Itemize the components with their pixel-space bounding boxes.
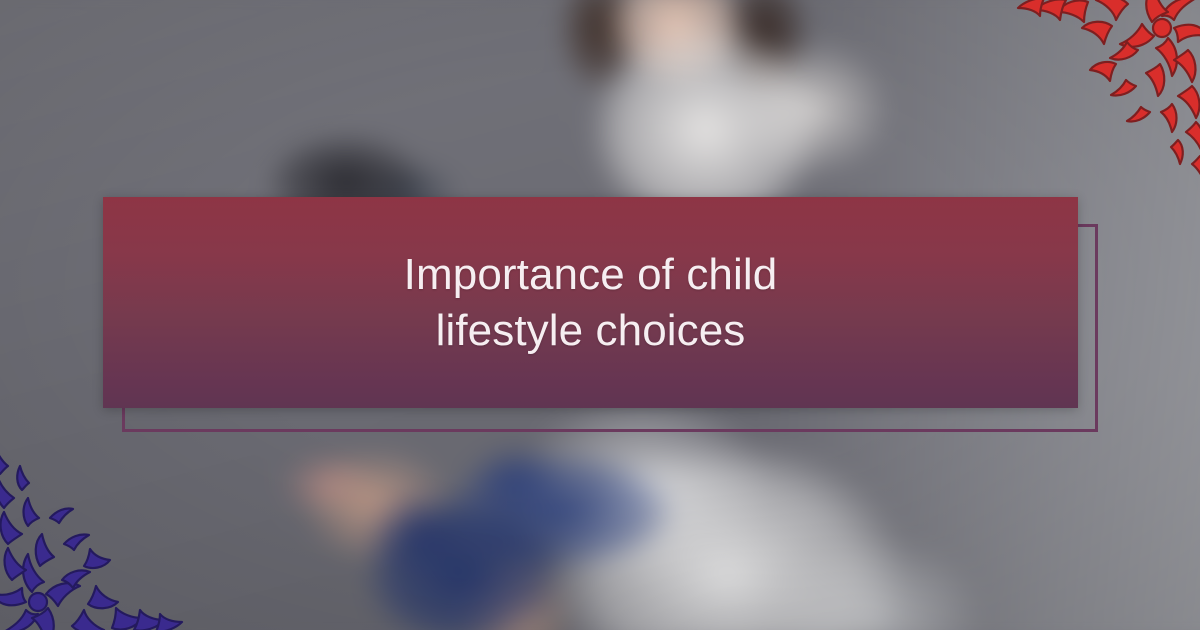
page-title: Importance of child lifestyle choices [364, 247, 818, 359]
title-banner: Importance of child lifestyle choices [103, 197, 1078, 408]
poster-canvas: Importance of child lifestyle choices [0, 0, 1200, 630]
